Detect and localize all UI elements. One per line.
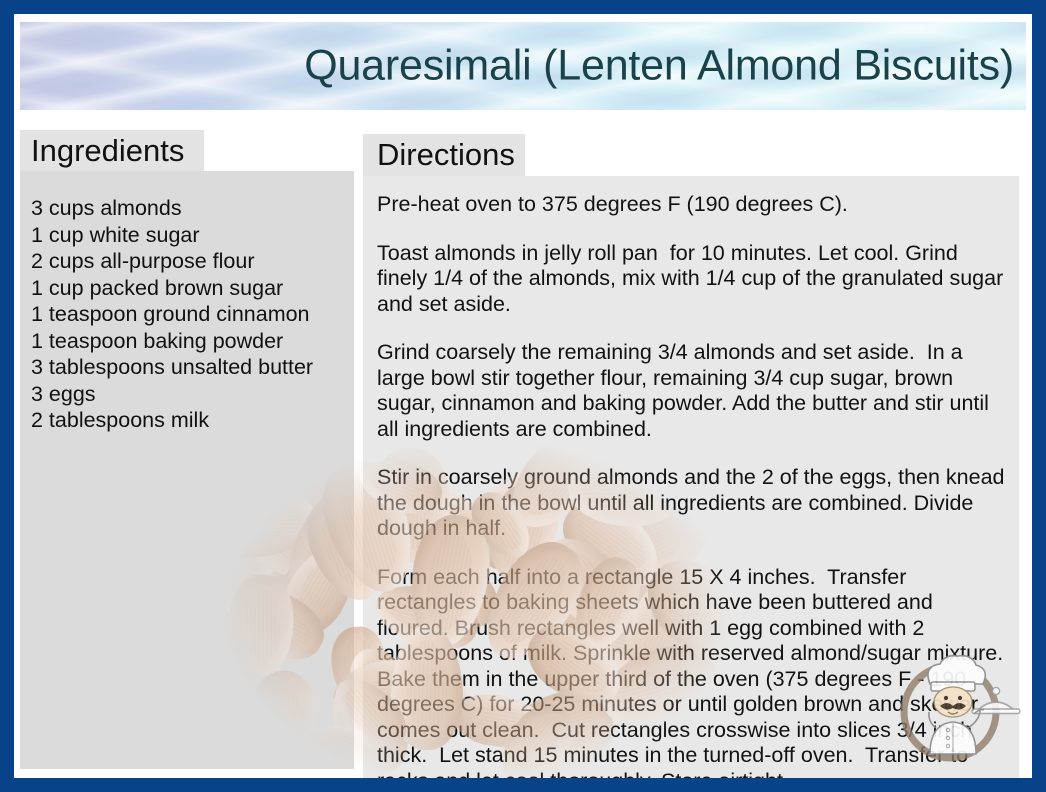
page-title: Quaresimali (Lenten Almond Biscuits) xyxy=(304,42,1014,91)
tab-directions-label: Directions xyxy=(377,137,515,173)
ingredient-item: 3 eggs xyxy=(31,381,354,408)
directions-list: Pre-heat oven to 375 degrees F (190 degr… xyxy=(377,192,1007,778)
title-banner: Quaresimali (Lenten Almond Biscuits) xyxy=(20,22,1026,110)
slide-page: Quaresimali (Lenten Almond Biscuits) 3 c… xyxy=(14,14,1032,778)
ingredient-item: 1 teaspoon baking powder xyxy=(31,328,354,355)
ingredient-item: 2 tablespoons milk xyxy=(31,407,354,434)
recipe-slide: Quaresimali (Lenten Almond Biscuits) 3 c… xyxy=(0,0,1046,792)
frame-border-top xyxy=(0,0,1046,14)
direction-step: Pre-heat oven to 375 degrees F (190 degr… xyxy=(377,192,1007,218)
tab-ingredients-label: Ingredients xyxy=(31,133,184,169)
direction-step: Form each half into a rectangle 15 X 4 i… xyxy=(377,565,1007,779)
ingredient-item: 3 tablespoons unsalted butter xyxy=(31,354,354,381)
frame-border-left xyxy=(0,0,14,792)
ingredient-item: 3 cups almonds xyxy=(31,195,354,222)
ingredient-item: 1 cup packed brown sugar xyxy=(31,275,354,302)
tab-ingredients[interactable]: Ingredients xyxy=(20,130,204,171)
ingredients-panel: 3 cups almonds1 cup white sugar2 cups al… xyxy=(20,171,354,769)
tab-directions[interactable]: Directions xyxy=(363,134,525,176)
direction-step: Stir in coarsely ground almonds and the … xyxy=(377,465,1007,542)
direction-step: Toast almonds in jelly roll pan for 10 m… xyxy=(377,241,1007,318)
frame-border-bottom xyxy=(0,778,1046,792)
directions-panel: Pre-heat oven to 375 degrees F (190 degr… xyxy=(363,176,1019,778)
ingredients-list: 3 cups almonds1 cup white sugar2 cups al… xyxy=(31,195,354,434)
ingredient-item: 2 cups all-purpose flour xyxy=(31,248,354,275)
direction-step: Grind coarsely the remaining 3/4 almonds… xyxy=(377,340,1007,442)
frame-border-right xyxy=(1032,0,1046,792)
ingredient-item: 1 teaspoon ground cinnamon xyxy=(31,301,354,328)
ingredient-item: 1 cup white sugar xyxy=(31,222,354,249)
